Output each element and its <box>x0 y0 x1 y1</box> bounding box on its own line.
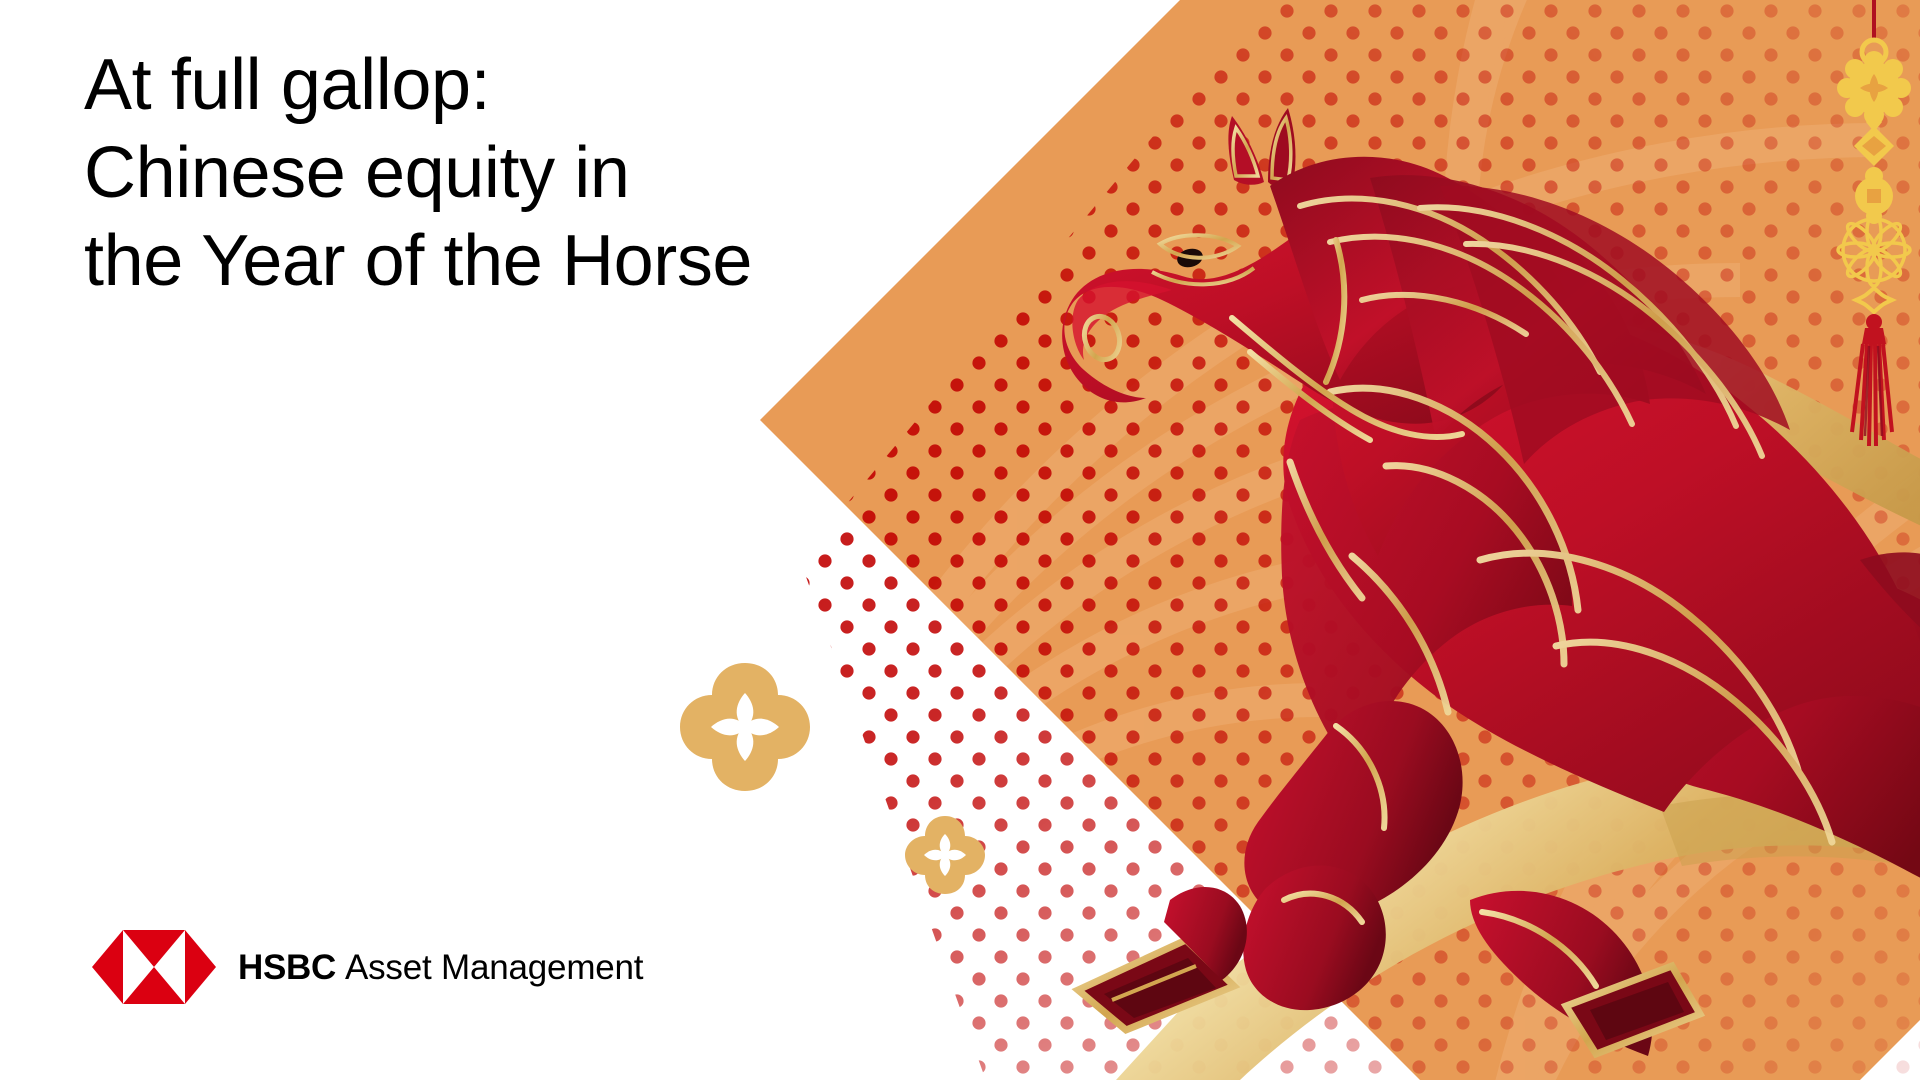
quatrefoil-flower-large <box>680 663 810 791</box>
slide-canvas: At full gallop: Chinese equity in the Ye… <box>0 0 1920 1080</box>
logo-descriptor: Asset Management <box>345 950 643 985</box>
logo-wordmark: HSBC Asset Management <box>238 950 643 985</box>
hsbc-logo-lockup: HSBC Asset Management <box>92 930 643 1004</box>
logo-brand: HSBC <box>238 950 336 985</box>
page-title: At full gallop: Chinese equity in the Ye… <box>84 42 964 305</box>
hsbc-hexagon-logo <box>92 930 216 1004</box>
